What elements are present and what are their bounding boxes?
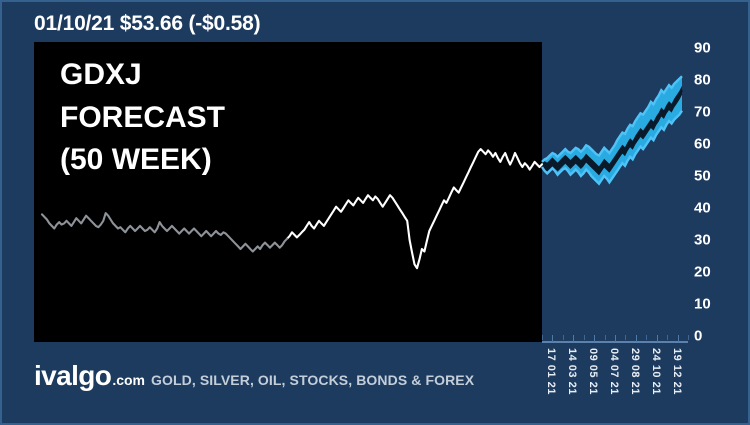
brand-tld: .com [112, 372, 145, 388]
forecast-band-group [542, 76, 682, 184]
x-axis-minor-tick [605, 335, 606, 340]
x-axis-minor-tick [657, 335, 658, 340]
history-price-line [287, 149, 542, 268]
y-axis-tick-label: 80 [694, 72, 728, 89]
brand-footer: ivalgo .com GOLD, SILVER, OIL, STOCKS, B… [34, 360, 474, 390]
y-axis-tick-label: 70 [694, 104, 728, 121]
x-axis-tick-label: 14 03 21 [566, 348, 578, 395]
x-axis-minor-tick [625, 335, 626, 340]
x-axis-tick-label: 19 12 21 [671, 348, 683, 395]
y-axis-tick-label: 30 [694, 232, 728, 249]
x-axis-minor-tick [688, 335, 689, 340]
y-axis-tick-label: 50 [694, 168, 728, 185]
x-axis-minor-tick [552, 335, 553, 340]
y-axis-tick-label: 0 [694, 328, 728, 345]
x-axis-tick-label: 17 01 21 [545, 348, 557, 395]
y-axis-tick-label: 90 [694, 40, 728, 57]
x-axis-tick-label: 24 10 21 [650, 348, 662, 395]
x-axis-minor-tick [563, 335, 564, 340]
x-axis-minor-tick [615, 335, 616, 340]
y-axis-tick-label: 60 [694, 136, 728, 153]
history-price-line-early [42, 213, 287, 251]
y-axis-tick-label: 10 [694, 296, 728, 313]
y-axis-tick-label: 20 [694, 264, 728, 281]
chart-series-layer [34, 42, 687, 342]
x-axis-minor-tick [636, 335, 637, 340]
quote-header: 01/10/21 $53.66 (-$0.58) [34, 10, 260, 38]
x-axis-minor-tick [573, 335, 574, 340]
x-axis-tick-label: 09 05 21 [587, 348, 599, 395]
x-axis-tick-label: 04 07 21 [608, 348, 620, 395]
x-axis-minor-tick [678, 335, 679, 340]
y-axis-tick-label: 40 [694, 200, 728, 217]
brand-name: ivalgo [34, 360, 111, 392]
x-axis-minor-tick [584, 335, 585, 340]
x-axis-minor-tick [594, 335, 595, 340]
x-axis-tick-label: 29 08 21 [629, 348, 641, 395]
x-axis-minor-tick [542, 335, 543, 340]
x-axis-minor-tick [667, 335, 668, 340]
chart-screenshot: 01/10/21 $53.66 (-$0.58) GDXJ FORECAST (… [0, 0, 750, 425]
x-axis-minor-tick [646, 335, 647, 340]
brand-tagline: GOLD, SILVER, OIL, STOCKS, BONDS & FOREX [151, 372, 474, 388]
